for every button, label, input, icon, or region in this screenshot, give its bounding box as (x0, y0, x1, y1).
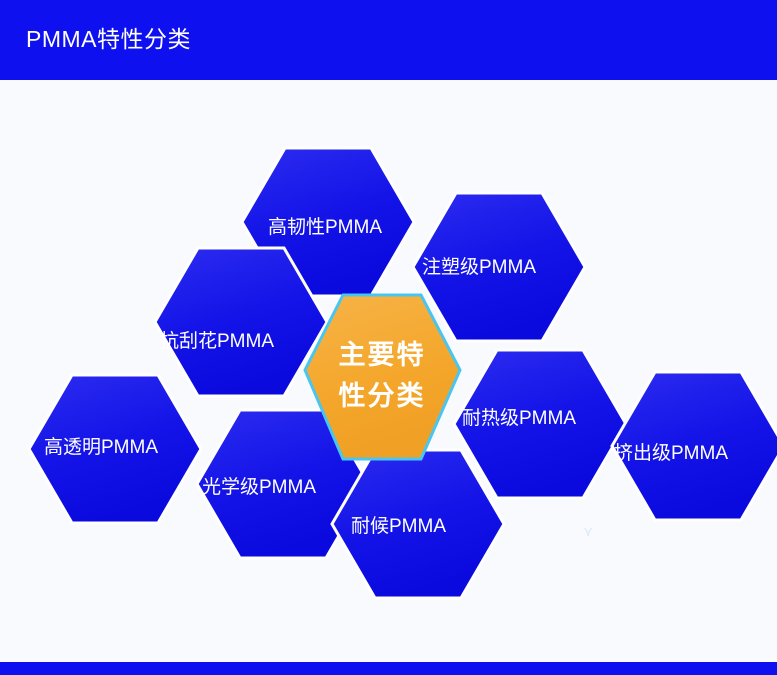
node-heat[interactable]: 耐热级PMMA (454, 350, 626, 498)
node-toughness-label: 高韧性PMMA (268, 216, 382, 238)
honeycomb-diagram: 高韧性PMMA 注塑级PMMA 抗刮花PMMA 耐热级PMMA 高透明PMMA … (0, 80, 777, 662)
node-optical-label: 光学级PMMA (202, 476, 316, 498)
node-heat-label: 耐热级PMMA (462, 407, 576, 429)
node-injection-label: 注塑级PMMA (422, 256, 536, 278)
node-extrusion[interactable]: 挤出级PMMA (612, 372, 777, 520)
node-extrusion-label: 挤出级PMMA (614, 442, 728, 464)
header-bar: PMMA特性分类 (0, 0, 777, 80)
footer-bar (0, 662, 777, 675)
node-transparent[interactable]: 高透明PMMA (29, 375, 201, 523)
hub-label-line2: 性分类 (339, 381, 426, 411)
hub-label-line1: 主要特 (339, 340, 426, 370)
diagram-canvas: 高韧性PMMA 注塑级PMMA 抗刮花PMMA 耐热级PMMA 高透明PMMA … (0, 80, 777, 662)
node-scratch-label: 抗刮花PMMA (160, 330, 274, 352)
node-weather-label: 耐候PMMA (351, 515, 446, 537)
node-injection[interactable]: 注塑级PMMA (413, 193, 585, 341)
watermark-artifact: ⋎ (583, 523, 599, 539)
page-title: PMMA特性分类 (26, 24, 191, 54)
node-transparent-label: 高透明PMMA (44, 436, 158, 458)
